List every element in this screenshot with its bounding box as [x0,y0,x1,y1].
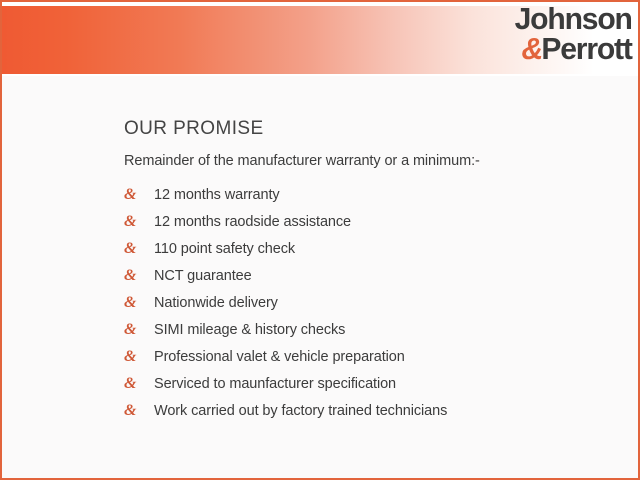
list-item: & Professional valet & vehicle preparati… [124,349,638,366]
list-item-label: 110 point safety check [154,242,295,258]
list-item: & 12 months raodside assistance [124,214,638,231]
list-item-label: 12 months raodside assistance [154,215,351,231]
promise-card: Johnson &Perrott OUR PROMISE Remainder o… [0,0,640,480]
ampersand-icon: & [124,349,154,365]
page-title: OUR PROMISE [124,118,638,140]
ampersand-icon: & [124,268,154,284]
brand-logo-line-one: Johnson [515,5,632,34]
ampersand-icon: & [124,322,154,338]
list-item-label: Nationwide delivery [154,296,278,312]
ampersand-icon: & [124,403,154,419]
list-item: & 12 months warranty [124,187,638,204]
promise-content: OUR PROMISE Remainder of the manufacture… [2,76,638,419]
ampersand-icon: & [124,295,154,311]
list-item: & Work carried out by factory trained te… [124,403,638,420]
ampersand-icon: & [124,187,154,203]
list-item-label: Professional valet & vehicle preparation [154,350,405,366]
promise-subtitle: Remainder of the manufacturer warranty o… [124,153,638,169]
brand-logo: Johnson &Perrott [511,5,632,63]
ampersand-icon: & [124,241,154,257]
list-item-label: Work carried out by factory trained tech… [154,404,447,420]
list-item: & Serviced to maunfacturer specification [124,376,638,393]
brand-logo-line-two: &Perrott [515,35,632,64]
brand-ampersand-icon: & [522,31,542,66]
list-item-label: Serviced to maunfacturer specification [154,377,396,393]
brand-logo-perrott: Perrott [542,31,632,66]
list-item: & 110 point safety check [124,241,638,258]
list-item-label: NCT guarantee [154,269,252,285]
ampersand-icon: & [124,214,154,230]
list-item: & NCT guarantee [124,268,638,285]
ampersand-icon: & [124,376,154,392]
header-banner: Johnson &Perrott [2,2,638,76]
promise-list: & 12 months warranty & 12 months raodsid… [124,187,638,419]
list-item-label: SIMI mileage & history checks [154,323,345,339]
list-item-label: 12 months warranty [154,188,280,204]
list-item: & Nationwide delivery [124,295,638,312]
list-item: & SIMI mileage & history checks [124,322,638,339]
